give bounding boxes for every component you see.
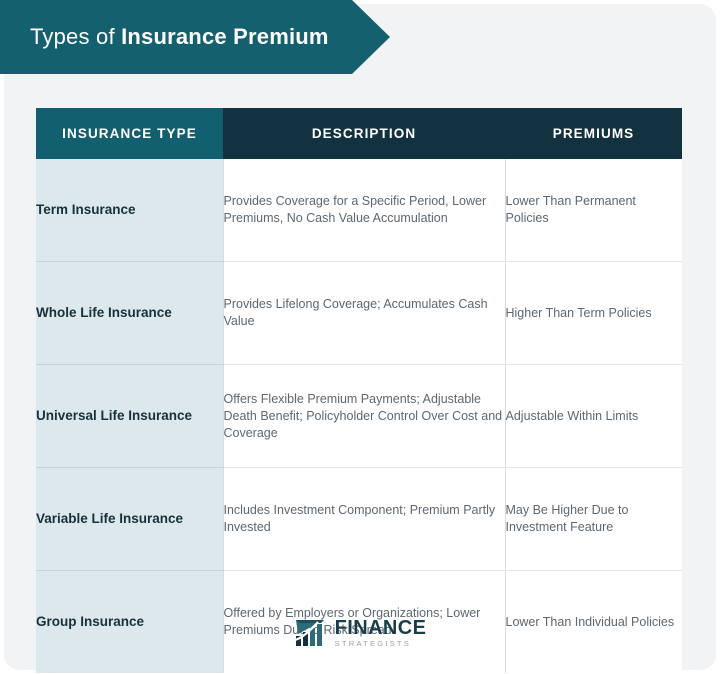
brand-subtitle: STRATEGISTS — [335, 640, 427, 648]
cell-description: Provides Lifelong Coverage; Accumulates … — [223, 262, 505, 365]
footer: FINANCE STRATEGISTS — [0, 608, 720, 658]
table-row: Variable Life Insurance Includes Investm… — [36, 468, 682, 571]
column-header-premiums: PREMIUMS — [505, 108, 682, 159]
table-row: Universal Life Insurance Offers Flexible… — [36, 365, 682, 468]
finance-chart-arrow-icon — [294, 618, 328, 648]
cell-insurance-type: Whole Life Insurance — [36, 262, 223, 365]
cell-premiums: Higher Than Term Policies — [505, 262, 682, 365]
brand-logo-text: FINANCE STRATEGISTS — [335, 618, 427, 648]
page-title: Types of Insurance Premium — [0, 24, 329, 50]
cell-premiums: Lower Than Permanent Policies — [505, 159, 682, 262]
cell-insurance-type: Universal Life Insurance — [36, 365, 223, 468]
cell-description: Offers Flexible Premium Payments; Adjust… — [223, 365, 505, 468]
page-title-prefix: Types of — [30, 24, 121, 49]
cell-premiums: Adjustable Within Limits — [505, 365, 682, 468]
table-row: Whole Life Insurance Provides Lifelong C… — [36, 262, 682, 365]
cell-description: Includes Investment Component; Premium P… — [223, 468, 505, 571]
cell-insurance-type: Term Insurance — [36, 159, 223, 262]
brand-name: FINANCE — [335, 618, 427, 638]
table-body: Term Insurance Provides Coverage for a S… — [36, 159, 682, 673]
insurance-premium-table: INSURANCE TYPE DESCRIPTION PREMIUMS Term… — [36, 108, 682, 673]
table-row: Term Insurance Provides Coverage for a S… — [36, 159, 682, 262]
cell-premiums: May Be Higher Due to Investment Feature — [505, 468, 682, 571]
header-banner: Types of Insurance Premium — [0, 0, 390, 74]
column-header-description: DESCRIPTION — [223, 108, 505, 159]
table-head: INSURANCE TYPE DESCRIPTION PREMIUMS — [36, 108, 682, 159]
table-header-row: INSURANCE TYPE DESCRIPTION PREMIUMS — [36, 108, 682, 159]
column-header-insurance-type: INSURANCE TYPE — [36, 108, 223, 159]
page-title-strong: Insurance Premium — [121, 24, 329, 49]
cell-description: Provides Coverage for a Specific Period,… — [223, 159, 505, 262]
insurance-premium-table-wrapper: INSURANCE TYPE DESCRIPTION PREMIUMS Term… — [36, 108, 682, 673]
brand-logo: FINANCE STRATEGISTS — [294, 618, 427, 648]
cell-insurance-type: Variable Life Insurance — [36, 468, 223, 571]
infographic-page: Types of Insurance Premium INSURANCE TYP… — [0, 0, 720, 674]
